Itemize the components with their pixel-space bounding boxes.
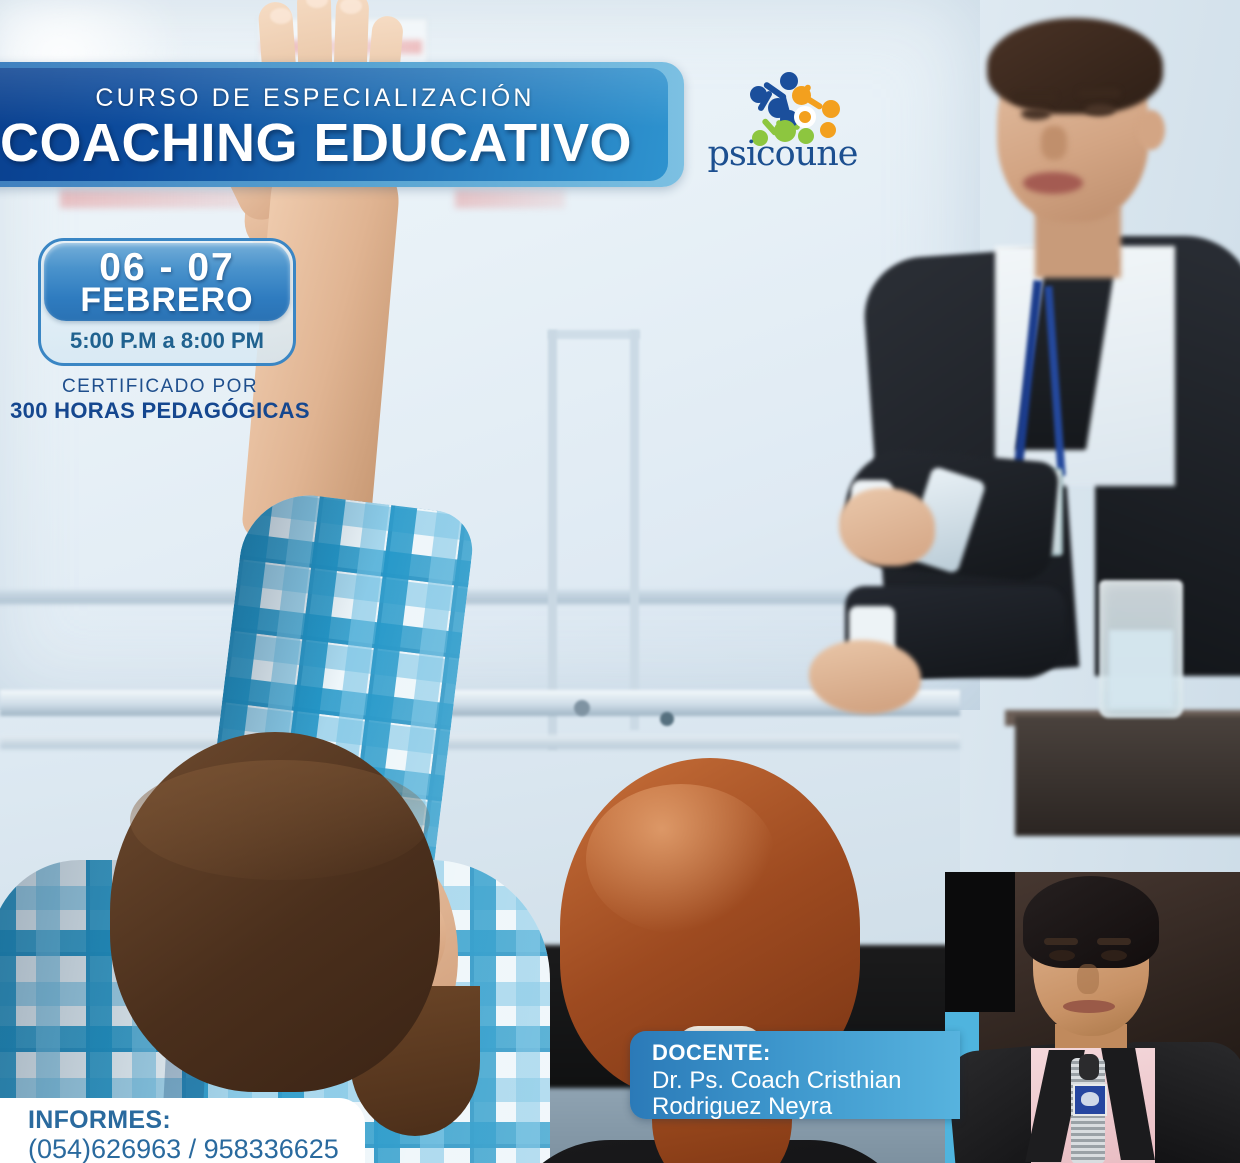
teacher-name-line-1: Dr. Ps. Coach Cristhian — [652, 1067, 901, 1095]
teacher-photo-bg-dark — [945, 872, 1015, 1012]
water-glass-liquid — [1109, 630, 1173, 708]
date-month: FEBRERO — [44, 281, 290, 320]
teacher-label: DOCENTE: — [652, 1040, 771, 1066]
contact-panel: INFORMES: (054)626963 / 958336625 — [0, 1098, 365, 1163]
teacher-nose — [1077, 964, 1099, 994]
teacher-eye-right — [1101, 950, 1127, 961]
node-orange-right — [822, 100, 840, 118]
course-kicker: CURSO DE ESPECIALIZACIÓN — [0, 84, 646, 113]
student-hair-highlight — [130, 760, 430, 880]
brand-logo: psicoune — [700, 72, 865, 182]
node-orange-ring — [794, 106, 816, 128]
presenter-nose — [1041, 126, 1067, 160]
teacher-eyebrow-left — [1044, 938, 1078, 945]
presenter-eye-left — [1021, 108, 1051, 120]
teacher-hair — [1023, 876, 1159, 968]
board-stand-leg-right — [630, 330, 639, 730]
stand-knob-b — [660, 712, 674, 726]
node-blue-left — [750, 86, 767, 103]
presenter-hand-upper — [839, 488, 935, 566]
contact-phones[interactable]: (054)626963 / 958336625 — [28, 1134, 339, 1163]
date-time: 5:00 P.M a 8:00 PM — [38, 328, 296, 354]
node-orange-top — [792, 86, 811, 105]
microphone-flag-logo-icon — [1081, 1092, 1099, 1106]
presenter-eye-right — [1085, 104, 1115, 116]
microphone-head — [1079, 1054, 1099, 1080]
teacher-eyebrow-right — [1097, 938, 1131, 945]
teacher-photo — [945, 872, 1240, 1163]
contact-label: INFORMES: — [28, 1106, 171, 1135]
podium — [1015, 716, 1240, 836]
presenter-eyebrow-right — [1077, 88, 1121, 98]
teacher-name-line-2: Rodriguez Neyra — [652, 1093, 832, 1121]
presenter-mouth — [1023, 172, 1083, 194]
presenter-figure — [845, 10, 1240, 810]
teacher-info-bar: DOCENTE: Dr. Ps. Coach Cristhian Rodrigu… — [630, 1031, 960, 1119]
brand-wordmark: psicoune — [700, 134, 865, 174]
presenter-ear — [1137, 110, 1165, 150]
teacher-eye-left — [1049, 950, 1075, 961]
certification-hours: 300 HORAS PEDAGÓGICAS — [10, 398, 310, 424]
student-raised-hand-figure — [170, 120, 590, 880]
course-title: COACHING EDUCATIVO — [0, 112, 648, 174]
poster-canvas: CURSO DE ESPECIALIZACIÓN COACHING EDUCAT… — [0, 0, 1240, 1163]
date-box: 06 - 07 FEBRERO — [44, 243, 290, 321]
teacher-mouth — [1063, 1000, 1115, 1013]
date-card: 06 - 07 FEBRERO 5:00 P.M a 8:00 PM — [38, 238, 296, 366]
presenter-eyebrow-left — [1013, 92, 1057, 102]
woman-hair-highlight — [586, 784, 776, 934]
presenter-hand-lower — [809, 640, 921, 714]
title-banner: CURSO DE ESPECIALIZACIÓN COACHING EDUCAT… — [0, 68, 668, 181]
fingernail-index — [270, 8, 292, 24]
certification-label: CERTIFICADO POR — [10, 376, 310, 398]
